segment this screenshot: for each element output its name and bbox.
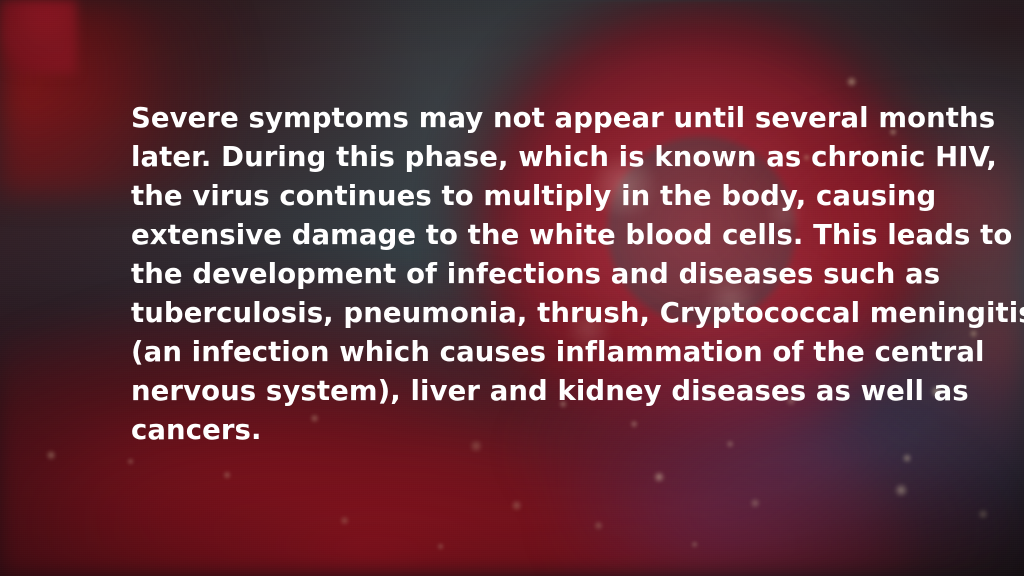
caption-line-3: the virus continues to multiply in the b… bbox=[131, 177, 931, 216]
caption-line-9: cancers. bbox=[131, 411, 931, 450]
caption-line-6: tuberculosis, pneumonia, thrush, Cryptoc… bbox=[131, 294, 931, 333]
caption-line-7: (an infection which causes inflammation … bbox=[131, 333, 931, 372]
caption-slide: Severe symptoms may not appear until sev… bbox=[0, 0, 1024, 576]
caption-text-block: Severe symptoms may not appear until sev… bbox=[131, 99, 931, 450]
caption-line-4: extensive damage to the white blood cell… bbox=[131, 216, 931, 255]
caption-line-1: Severe symptoms may not appear until sev… bbox=[131, 99, 931, 138]
caption-line-5: the development of infections and diseas… bbox=[131, 255, 931, 294]
caption-line-2: later. During this phase, which is known… bbox=[131, 138, 931, 177]
caption-line-8: nervous system), liver and kidney diseas… bbox=[131, 372, 931, 411]
